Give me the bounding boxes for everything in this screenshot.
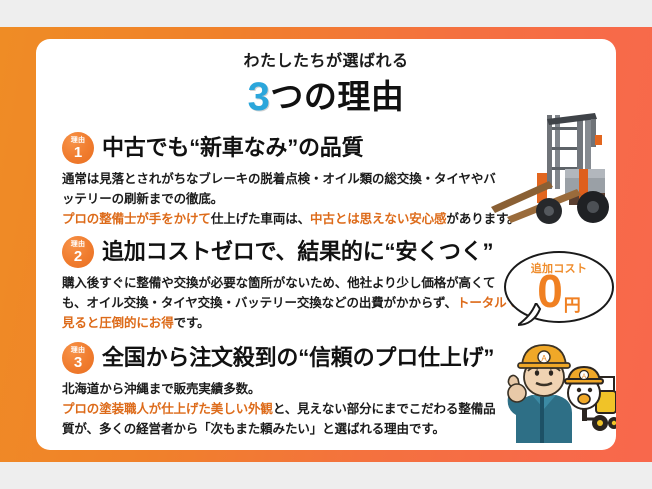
reason-2-body-tail: です。 xyxy=(174,316,210,330)
reason-3-highlight-1: プロの塗装職人が仕上げた美しい外観 xyxy=(62,402,273,416)
bubble-price: 0円 xyxy=(504,268,614,314)
reason-badge-1: 理由 1 xyxy=(62,132,94,164)
reason-2-body: 購入後すぐに整備や交換が必要な箇所がないため、他社より少し価格が高くて も、オイ… xyxy=(62,274,532,333)
reason-badge-3: 理由 3 xyxy=(62,342,94,374)
reason-3-body: 北海道から沖縄まで販売実績多数。 プロの塗装職人が仕上げた美しい外観と、見えない… xyxy=(62,380,532,439)
worker-mascot-icon: A A xyxy=(498,335,616,443)
reason-2-body-line2: も、オイル交換・タイヤ交換・バッテリー交換などの出費がかからず、 xyxy=(62,296,457,310)
heading-main-rest: つの理由 xyxy=(270,78,404,115)
reason-2-header: 理由 2 追加コストゼロで、結果的に“安くつく” xyxy=(62,235,532,269)
forklift-photo xyxy=(491,107,611,232)
reason-1-title: 中古でも“新車なみ”の品質 xyxy=(102,136,363,160)
reason-1-body-line1: 通常は見落とされがちなブレーキの脱着点検・オイル類の総交換・タイヤやバ xyxy=(62,172,496,186)
cost-speech-bubble: 追加コスト 0円 xyxy=(504,251,614,337)
reason-1-highlight-1: プロの整備士が手をかけて xyxy=(62,212,211,226)
reason-block-3: 理由 3 全国から注文殺到の“信頼のプロ仕上げ” 北海道から沖縄まで販売実績多数… xyxy=(62,341,532,439)
reason-badge-2-number: 2 xyxy=(74,249,82,264)
reason-2-body-line1: 購入後すぐに整備や交換が必要な箇所がないため、他社より少し価格が高くて xyxy=(62,276,495,290)
mascot-illustration: A A xyxy=(498,335,616,443)
reason-1-highlight-2: 中古とは思えない安心感 xyxy=(310,212,446,226)
content-card: わたしたちが選ばれる 3つの理由 理由 1 中古でも“新車なみ”の品質 通常は見… xyxy=(36,39,616,450)
reason-1-body-line2: ッテリーの刷新までの徹底。 xyxy=(62,192,223,206)
page-root: わたしたちが選ばれる 3つの理由 理由 1 中古でも“新車なみ”の品質 通常は見… xyxy=(0,0,652,489)
reason-3-header: 理由 3 全国から注文殺到の“信頼のプロ仕上げ” xyxy=(62,341,532,375)
reason-block-2: 理由 2 追加コストゼロで、結果的に“安くつく” 購入後すぐに整備や交換が必要な… xyxy=(62,235,532,333)
reason-1-header: 理由 1 中古でも“新車なみ”の品質 xyxy=(62,131,532,165)
reason-block-1: 理由 1 中古でも“新車なみ”の品質 通常は見落とされがちなブレーキの脱着点検・… xyxy=(62,131,532,229)
reason-badge-2: 理由 2 xyxy=(62,236,94,268)
reason-1-body-mid1: 仕上げた車両は、 xyxy=(211,212,310,226)
reason-badge-1-number: 1 xyxy=(74,145,82,160)
reason-2-highlight-2: 見ると圧倒的にお得 xyxy=(62,316,174,330)
heading-kicker: わたしたちが選ばれる xyxy=(36,53,616,71)
svg-text:A: A xyxy=(582,374,586,380)
reason-3-body-mid1: と、見えない部分にまでこだわる整備品 xyxy=(273,402,496,416)
bubble-amount: 0 xyxy=(537,265,563,317)
heading-number: 3 xyxy=(248,75,271,119)
reason-badge-3-label: 理由 xyxy=(71,347,85,354)
reason-badge-3-number: 3 xyxy=(74,355,82,370)
svg-text:A: A xyxy=(541,354,547,363)
reason-1-body: 通常は見落とされがちなブレーキの脱着点検・オイル類の総交換・タイヤやバ ッテリー… xyxy=(62,170,532,229)
reason-badge-1-label: 理由 xyxy=(71,137,85,144)
reason-3-body-line1: 北海道から沖縄まで販売実績多数。 xyxy=(62,382,260,396)
reason-3-body-line3: 質が、多くの経営者から「次もまた頼みたい」と選ばれる理由です。 xyxy=(62,422,445,436)
reason-badge-2-label: 理由 xyxy=(71,241,85,248)
forklift-photo-icon xyxy=(491,107,611,232)
reason-3-title: 全国から注文殺到の“信頼のプロ仕上げ” xyxy=(102,346,494,370)
bubble-unit: 円 xyxy=(564,296,581,315)
reason-2-title: 追加コストゼロで、結果的に“安くつく” xyxy=(102,240,493,264)
